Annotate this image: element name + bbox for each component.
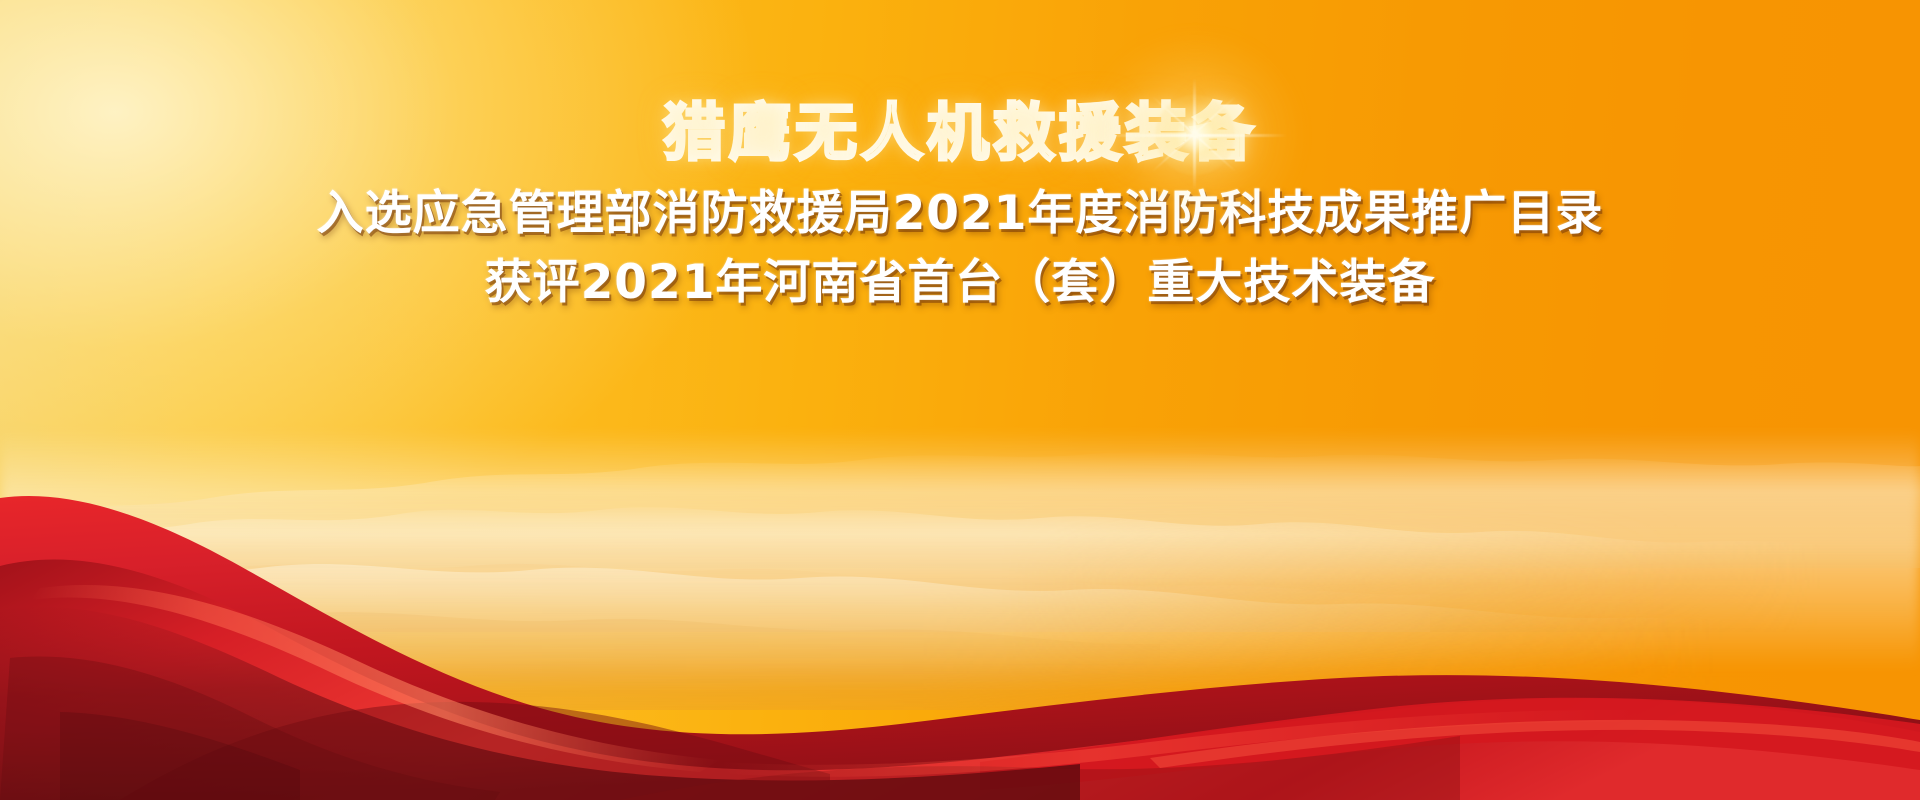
banner-subline-1: 入选应急管理部消防救援局2021年度消防科技成果推广目录 (0, 183, 1920, 246)
mist-haze-band-lower (0, 500, 1920, 690)
mountain-ridge-far (0, 418, 1920, 568)
promotional-banner: 猎鹰无人机救援装备 入选应急管理部消防救援局2021年度消防科技成果推广目录 获… (0, 0, 1920, 800)
banner-headline: 猎鹰无人机救援装备 (0, 96, 1920, 169)
red-silk-ribbon (0, 470, 1920, 800)
mist-haze-band (0, 430, 1920, 670)
mountain-ridge-mid (0, 452, 1920, 632)
mountain-ridge-near (0, 510, 1920, 710)
banner-text-block: 猎鹰无人机救援装备 入选应急管理部消防救援局2021年度消防科技成果推广目录 获… (0, 96, 1920, 314)
banner-subline-2: 获评2021年河南省首台（套）重大技术装备 (0, 252, 1920, 315)
